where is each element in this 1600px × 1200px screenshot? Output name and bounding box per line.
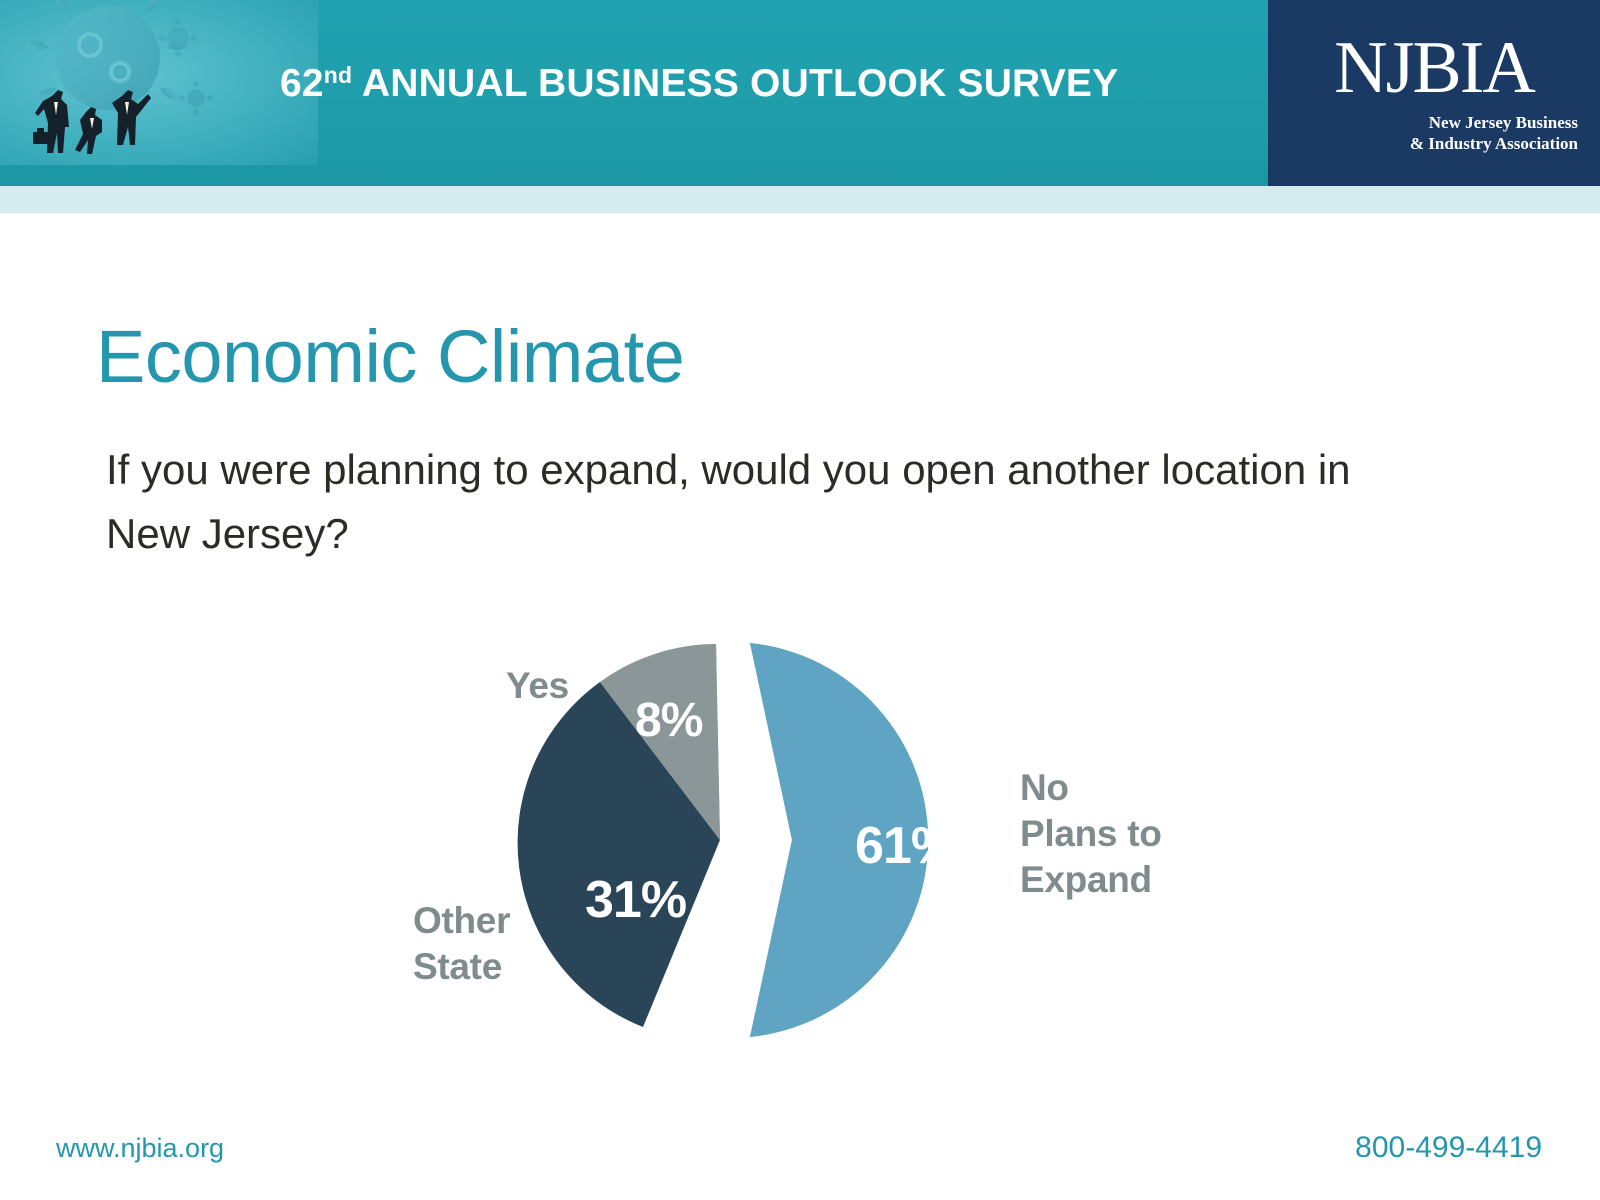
coronavirus-businessmen-illustration (0, 0, 318, 165)
pie-chart: 61% 31% 8% Yes Other State No Plans to E… (400, 620, 1220, 1100)
header-accent-strip (0, 186, 1600, 213)
pie-label-other-state-line1: Other (413, 898, 510, 944)
pie-label-no-plans-line2: Plans to (1020, 811, 1162, 857)
page-title-ordinal: nd (324, 62, 353, 88)
pie-value-61: 61% (855, 816, 956, 876)
njbia-tagline-line1: New Jersey Business (1348, 112, 1578, 133)
footer-website-link[interactable]: www.njbia.org (56, 1133, 224, 1164)
page-title-number: 62 (280, 62, 324, 105)
page-title-text: ANNUAL BUSINESS OUTLOOK SURVEY (352, 62, 1118, 105)
header-teal-background: 62nd ANNUAL BUSINESS OUTLOOK SURVEY (0, 0, 1268, 186)
virus-small-icon (179, 81, 213, 115)
virus-illustration-svg (0, 0, 318, 165)
pie-label-other-state-line2: State (413, 944, 510, 990)
pie-label-no-plans-line1: No (1020, 765, 1162, 811)
pie-label-yes: Yes (506, 663, 569, 709)
pie-label-no-plans-line3: Expand (1020, 857, 1162, 903)
survey-question: If you were planning to expand, would yo… (106, 438, 1436, 566)
pie-label-other-state: Other State (413, 898, 510, 990)
pie-label-yes-line1: Yes (506, 663, 569, 709)
header-band: 62nd ANNUAL BUSINESS OUTLOOK SURVEY NJBI… (0, 0, 1600, 186)
footer-phone-number: 800-499-4419 (1355, 1131, 1542, 1165)
njbia-logo-tagline: New Jersey Business & Industry Associati… (1348, 112, 1578, 154)
pie-value-31: 31% (585, 870, 686, 930)
pie-label-no-plans-to-expand: No Plans to Expand (1020, 765, 1162, 903)
njbia-logo: NJBIA New Jersey Business & Industry Ass… (1268, 0, 1600, 186)
pie-value-8: 8% (635, 693, 702, 748)
virus-small-icon-2 (159, 19, 198, 58)
njbia-logo-mark: NJBIA (1268, 30, 1600, 106)
njbia-tagline-line2: & Industry Association (1348, 133, 1578, 154)
page-title: 62nd ANNUAL BUSINESS OUTLOOK SURVEY (280, 62, 1118, 106)
slide-title: Economic Climate (96, 314, 684, 400)
